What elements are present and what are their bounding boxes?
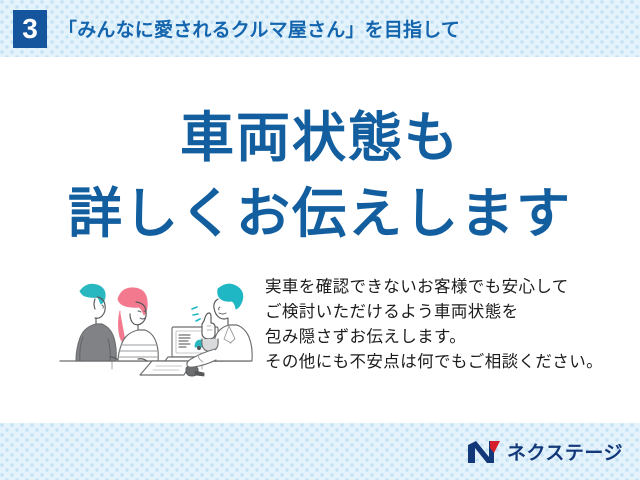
illustration-man-left — [76, 284, 119, 361]
illustration-woman — [118, 288, 158, 361]
banner-header: 3 「みんなに愛されるクルマ屋さん」を目指して — [0, 0, 640, 57]
headline-line-2: 詳しくお伝えします — [0, 169, 640, 248]
consultation-illustration-svg — [52, 269, 257, 387]
banner-footer: ネクステージ — [0, 423, 640, 480]
content-row: 実車を確認できないお客様でも安心して ご検討いただけるよう車両状態を 包み隠さず… — [0, 269, 640, 399]
banner-main: 車両状態も 詳しくお伝えします — [0, 57, 640, 423]
illustration-document — [140, 361, 192, 375]
body-copy-line: 実車を確認できないお客様でも安心して — [265, 275, 603, 300]
header-title: 「みんなに愛されるクルマ屋さん」を目指して — [58, 15, 460, 42]
promo-banner: 3 「みんなに愛されるクルマ屋さん」を目指して 車両状態も 詳しくお伝えします — [0, 0, 640, 480]
step-number-badge: 3 — [13, 10, 47, 48]
consultation-illustration — [52, 269, 257, 387]
body-copy-line: ご検討いただけるよう車両状態を — [265, 300, 603, 325]
brand-logo: ネクステージ — [467, 438, 623, 465]
illustration-speech-marks — [192, 307, 200, 321]
nextage-n-mark-icon — [467, 439, 501, 465]
body-copy-line: その他にも不安点は何でもご相談ください。 — [265, 350, 603, 375]
brand-name: ネクステージ — [507, 438, 623, 465]
body-copy-line: 包み隠さずお伝えします。 — [265, 325, 603, 350]
body-copy: 実車を確認できないお客様でも安心して ご検討いただけるよう車両状態を 包み隠さず… — [265, 269, 603, 375]
headline-line-1: 車両状態も — [0, 93, 640, 172]
